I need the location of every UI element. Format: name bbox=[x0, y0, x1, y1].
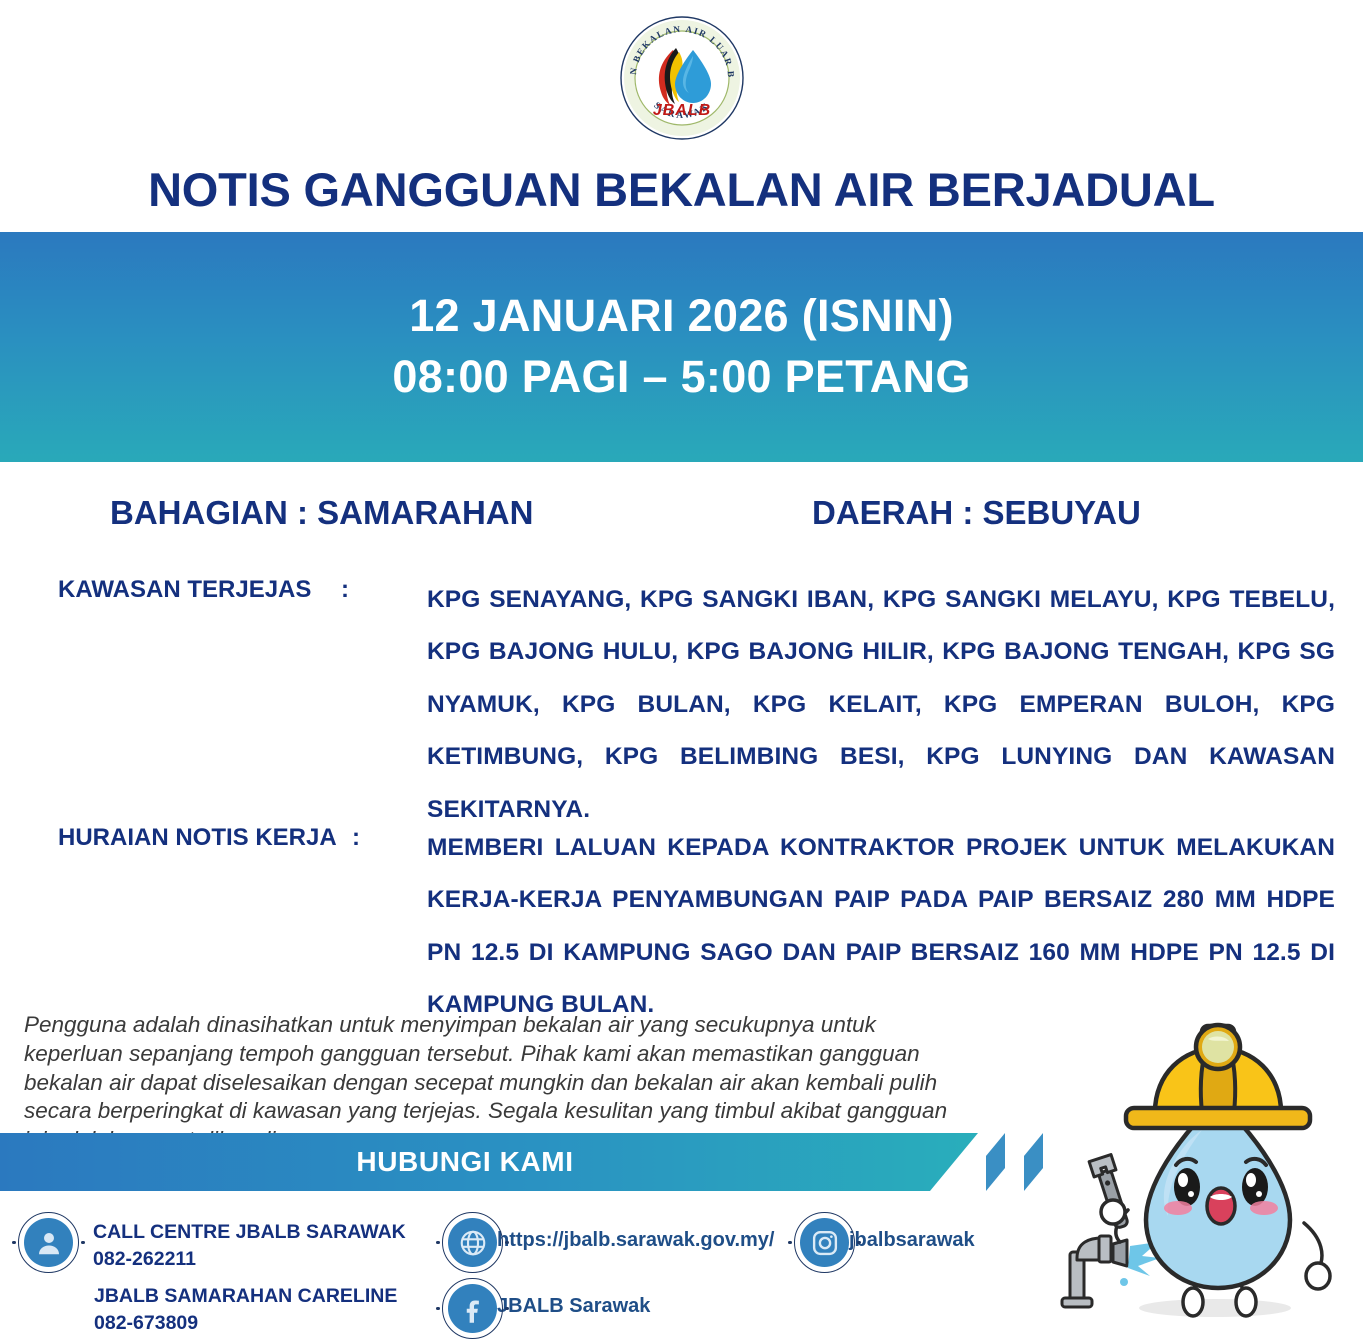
facebook-icon[interactable] bbox=[448, 1284, 497, 1333]
careline-text: JBALB SAMARAHAN CARELINE 082-673809 bbox=[94, 1282, 397, 1336]
page-title: NOTIS GANGGUAN BEKALAN AIR BERJADUAL bbox=[0, 162, 1363, 217]
website-contact[interactable]: https://jbalb.sarawak.gov.my/ bbox=[448, 1218, 774, 1267]
facebook-handle[interactable]: JBALB Sarawak bbox=[497, 1284, 650, 1318]
jbalb-seal-icon: JABATAN BEKALAN AIR LUAR BANDAR SARAWAK … bbox=[618, 14, 746, 142]
person-icon bbox=[24, 1218, 73, 1267]
affected-areas-colon: : bbox=[341, 576, 349, 604]
water-droplet-worker-mascot-icon bbox=[1050, 990, 1363, 1340]
water-supply-disruption-notice: JABATAN BEKALAN AIR LUAR BANDAR SARAWAK … bbox=[0, 0, 1363, 1340]
district-label: DAERAH : SEBUYAU bbox=[812, 494, 1141, 532]
affected-areas-label: KAWASAN TERJEJAS bbox=[58, 576, 311, 604]
icon-dot-decoration bbox=[436, 1307, 440, 1311]
banner-stripe-decoration bbox=[986, 1133, 1005, 1191]
contact-banner: HUBUNGI KAMI bbox=[0, 1133, 978, 1191]
icon-dot-decoration bbox=[436, 1241, 440, 1245]
website-url[interactable]: https://jbalb.sarawak.gov.my/ bbox=[497, 1218, 774, 1252]
icon-ring-decoration bbox=[18, 1212, 79, 1273]
schedule-banner: 12 JANUARI 2026 (ISNIN) 08:00 PAGI – 5:0… bbox=[0, 232, 1363, 462]
careline-phone[interactable]: 082-673809 bbox=[94, 1310, 397, 1337]
mascot-illustration bbox=[1050, 990, 1363, 1340]
icon-ring-decoration bbox=[442, 1278, 503, 1339]
instagram-icon[interactable] bbox=[800, 1218, 849, 1267]
right-arm bbox=[1304, 1223, 1330, 1289]
icon-dot-decoration bbox=[12, 1241, 16, 1245]
affected-areas-value: KPG SENAYANG, KPG SANGKI IBAN, KPG SANGK… bbox=[427, 574, 1335, 836]
call-centre-phone[interactable]: 082-262211 bbox=[93, 1246, 406, 1273]
work-description-colon: : bbox=[352, 824, 360, 852]
call-centre-text: CALL CENTRE JBALB SARAWAK 082-262211 bbox=[93, 1218, 406, 1272]
icon-ring-decoration bbox=[442, 1212, 503, 1273]
call-centre-name: CALL CENTRE JBALB SARAWAK bbox=[93, 1219, 406, 1246]
instagram-contact[interactable]: jbalbsarawak bbox=[800, 1218, 975, 1267]
schedule-time: 08:00 PAGI – 5:00 PETANG bbox=[392, 347, 970, 408]
icon-ring-decoration bbox=[794, 1212, 855, 1273]
hard-hat-icon bbox=[1126, 1025, 1310, 1128]
careline-name: JBALB SAMARAHAN CARELINE bbox=[94, 1283, 397, 1310]
wrench-arm bbox=[1089, 1155, 1133, 1242]
globe-icon[interactable] bbox=[448, 1218, 497, 1267]
contact-banner-title: HUBUNGI KAMI bbox=[356, 1146, 573, 1178]
work-description-label: HURAIAN NOTIS KERJA bbox=[58, 824, 337, 852]
division-label: BAHAGIAN : SAMARAHAN bbox=[110, 494, 533, 532]
region-row: BAHAGIAN : SAMARAHAN DAERAH : SEBUYAU bbox=[0, 494, 1363, 538]
call-centre-contact[interactable]: CALL CENTRE JBALB SARAWAK 082-262211 bbox=[24, 1218, 406, 1272]
jbalb-logo: JABATAN BEKALAN AIR LUAR BANDAR SARAWAK … bbox=[0, 14, 1363, 154]
icon-dot-decoration bbox=[788, 1241, 792, 1245]
instagram-handle[interactable]: jbalbsarawak bbox=[849, 1218, 975, 1252]
leaking-pipe-icon bbox=[1062, 1236, 1160, 1307]
banner-stripe-decoration bbox=[1024, 1133, 1043, 1191]
facebook-contact[interactable]: JBALB Sarawak bbox=[448, 1284, 650, 1333]
svg-text:JBALB: JBALB bbox=[652, 102, 710, 119]
careline-contact[interactable]: JBALB SAMARAHAN CARELINE 082-673809 bbox=[94, 1282, 397, 1336]
icon-dot-decoration bbox=[81, 1241, 85, 1245]
schedule-date: 12 JANUARI 2026 (ISNIN) bbox=[409, 286, 954, 347]
